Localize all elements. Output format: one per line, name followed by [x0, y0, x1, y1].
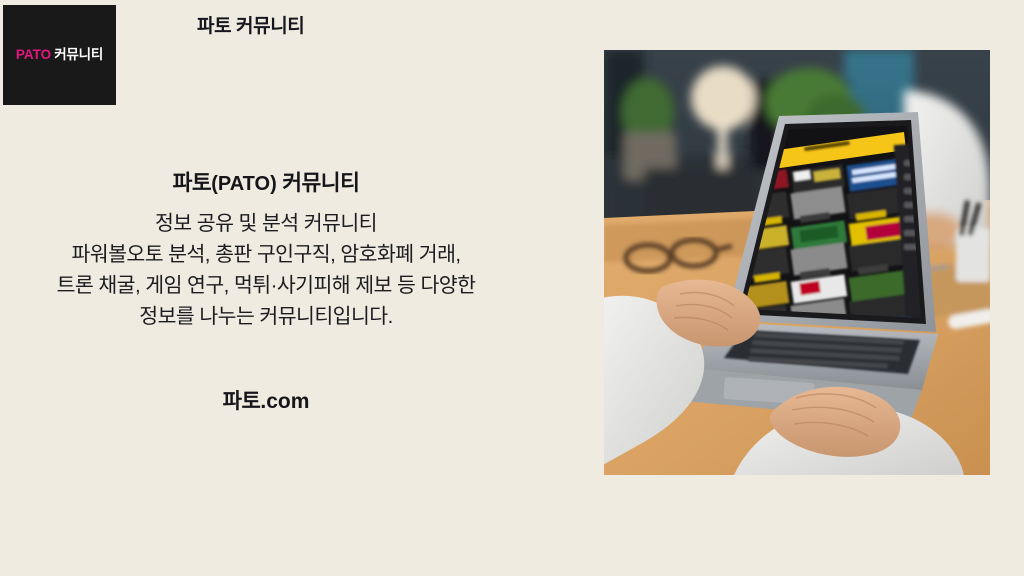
main-text-block: 파토(PATO) 커뮤니티 정보 공유 및 분석 커뮤니티 파워볼오토 분석, …	[0, 170, 532, 414]
body-line-4: 정보를 나누는 커뮤니티입니다.	[0, 301, 532, 332]
hero-photo	[604, 50, 990, 475]
body-line-3: 트론 채굴, 게임 연구, 먹튀·사기피해 제보 등 다양한	[0, 270, 532, 301]
logo-text: PATO커뮤니티	[16, 48, 103, 62]
body-line-1: 정보 공유 및 분석 커뮤니티	[0, 208, 532, 239]
domain-tld: .com	[260, 390, 309, 413]
headline-paren: (PATO)	[211, 173, 277, 195]
body-line-2: 파워볼오토 분석, 총판 구인구직, 암호화폐 거래,	[0, 239, 532, 270]
logo-brand-latin: PATO	[16, 47, 51, 62]
logo-brand-korean: 커뮤니티	[54, 47, 103, 62]
headline-suffix: 커뮤니티	[277, 171, 360, 195]
page-title: 파토 커뮤니티	[197, 16, 304, 39]
headline: 파토(PATO) 커뮤니티	[0, 170, 532, 198]
pato-community-logo[interactable]: PATO커뮤니티	[3, 5, 116, 105]
body-copy: 정보 공유 및 분석 커뮤니티 파워볼오토 분석, 총판 구인구직, 암호화폐 …	[0, 208, 532, 333]
site-domain[interactable]: 파토.com	[0, 333, 532, 414]
domain-korean: 파토	[223, 390, 261, 413]
headline-prefix: 파토	[173, 171, 212, 195]
slide-root: PATO커뮤니티 파토 커뮤니티 파토(PATO) 커뮤니티 정보 공유 및 분…	[0, 0, 1024, 576]
